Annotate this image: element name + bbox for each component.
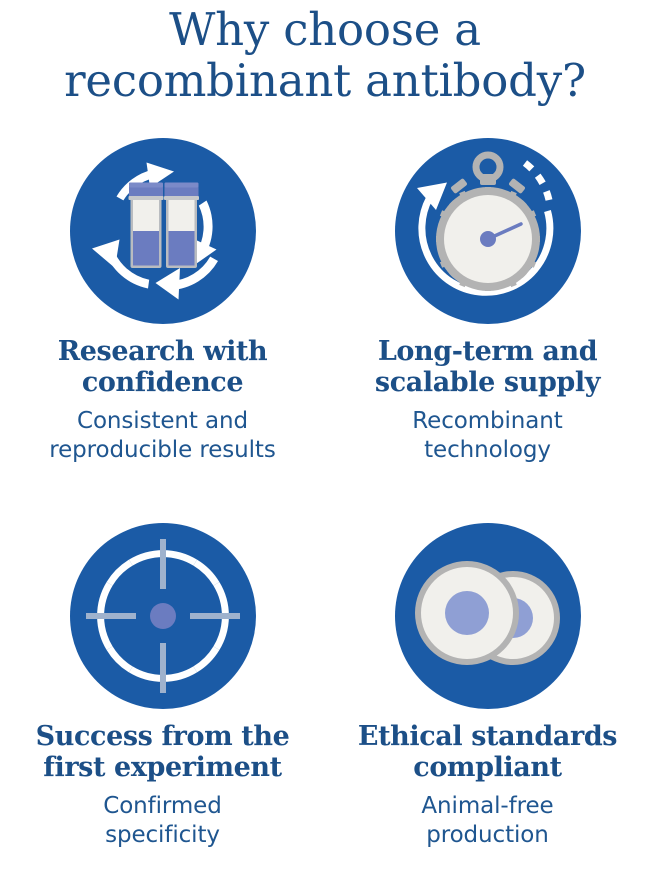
feature-grid: Research with confidence Consistent and … <box>0 128 650 888</box>
page-title-line-1: Why choose a <box>0 4 650 55</box>
page-title: Why choose a recombinant antibody? <box>0 4 650 106</box>
feature-subtext-line-1: Recombinant <box>329 407 646 436</box>
feature-subtext-line-1: Confirmed <box>4 792 321 821</box>
feature-heading-line-2: confidence <box>2 367 323 398</box>
vials-recycle-icon <box>70 138 256 324</box>
feature-heading-line-1: Ethical standards <box>327 721 648 752</box>
feature-heading: Ethical standards compliant <box>325 721 650 783</box>
feature-card-research-with-confidence: Research with confidence Consistent and … <box>0 128 325 465</box>
feature-subtext: Consistent and reproducible results <box>0 407 325 465</box>
feature-heading-line-1: Long-term and <box>327 336 648 367</box>
feature-subtext-line-2: technology <box>329 436 646 465</box>
feature-heading-line-2: first experiment <box>2 752 323 783</box>
feature-subtext-line-2: specificity <box>4 821 321 850</box>
feature-heading: Success from the first experiment <box>0 721 325 783</box>
feature-heading: Research with confidence <box>0 336 325 398</box>
feature-subtext-line-2: production <box>329 821 646 850</box>
crosshair-target-icon <box>70 523 256 709</box>
feature-heading: Long-term and scalable supply <box>325 336 650 398</box>
two-cells-icon <box>395 523 581 709</box>
infographic-root: Why choose a recombinant antibody? <box>0 0 650 889</box>
feature-card-ethical-standards-compliant: Ethical standards compliant Animal-free … <box>325 513 650 850</box>
page-title-line-2: recombinant antibody? <box>0 55 650 106</box>
feature-subtext-line-1: Animal-free <box>329 792 646 821</box>
feature-heading-line-2: compliant <box>327 752 648 783</box>
feature-subtext-line-2: reproducible results <box>4 436 321 465</box>
cell-left <box>415 561 519 665</box>
feature-heading-line-1: Research with <box>2 336 323 367</box>
feature-heading-line-2: scalable supply <box>327 367 648 398</box>
vial-left <box>128 183 163 269</box>
feature-subtext: Confirmed specificity <box>0 792 325 850</box>
feature-subtext: Animal-free production <box>325 792 650 850</box>
feature-heading-line-1: Success from the <box>2 721 323 752</box>
feature-card-success-from-the-first-experiment: Success from the first experiment Confir… <box>0 513 325 850</box>
feature-subtext: Recombinant technology <box>325 407 650 465</box>
feature-card-long-term-and-scalable-supply: Long-term and scalable supply Recombinan… <box>325 128 650 465</box>
feature-subtext-line-1: Consistent and <box>4 407 321 436</box>
vial-right <box>164 183 199 269</box>
stopwatch-icon <box>395 138 581 324</box>
